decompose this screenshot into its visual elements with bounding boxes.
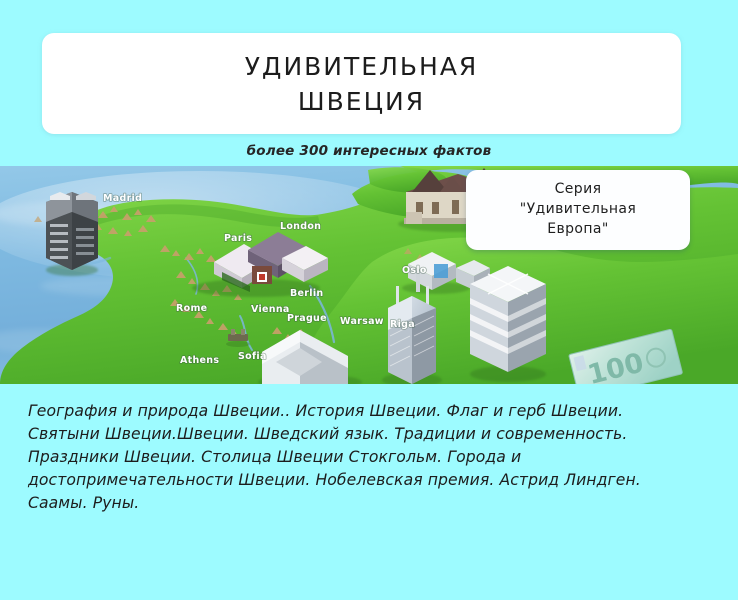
city-label-riga: Riga bbox=[390, 319, 415, 330]
city-label-oslo: Oslo bbox=[402, 265, 427, 276]
subtitle: более 300 интересных фактов bbox=[0, 143, 738, 159]
series-box: Серия "Удивительная Европа" bbox=[466, 170, 690, 250]
city-label-berlin: Berlin bbox=[290, 288, 323, 299]
city-label-vienna: Vienna bbox=[251, 304, 290, 315]
series-line-1: Серия bbox=[555, 180, 602, 200]
city-label-prague: Prague bbox=[287, 313, 327, 324]
series-line-2: "Удивительная bbox=[520, 200, 636, 220]
page-title-line-1: УДИВИТЕЛЬНАЯ bbox=[245, 50, 479, 83]
page-title-line-2: ШВЕЦИЯ bbox=[298, 85, 425, 118]
series-line-3: Европа" bbox=[547, 220, 609, 240]
city-label-athens: Athens bbox=[180, 355, 219, 366]
city-label-rome: Rome bbox=[176, 303, 207, 314]
city-label-paris: Paris bbox=[224, 233, 252, 244]
city-label-london: London bbox=[280, 221, 321, 232]
city-label-sofia: Sofia bbox=[238, 351, 267, 362]
description-text: География и природа Швеции.. История Шве… bbox=[28, 400, 698, 515]
title-card: УДИВИТЕЛЬНАЯ ШВЕЦИЯ bbox=[42, 33, 681, 134]
city-label-madrid: Madrid bbox=[103, 193, 142, 204]
poster-page: УДИВИТЕЛЬНАЯ ШВЕЦИЯ более 300 интересных… bbox=[0, 0, 738, 600]
city-label-warsaw: Warsaw bbox=[340, 316, 384, 327]
